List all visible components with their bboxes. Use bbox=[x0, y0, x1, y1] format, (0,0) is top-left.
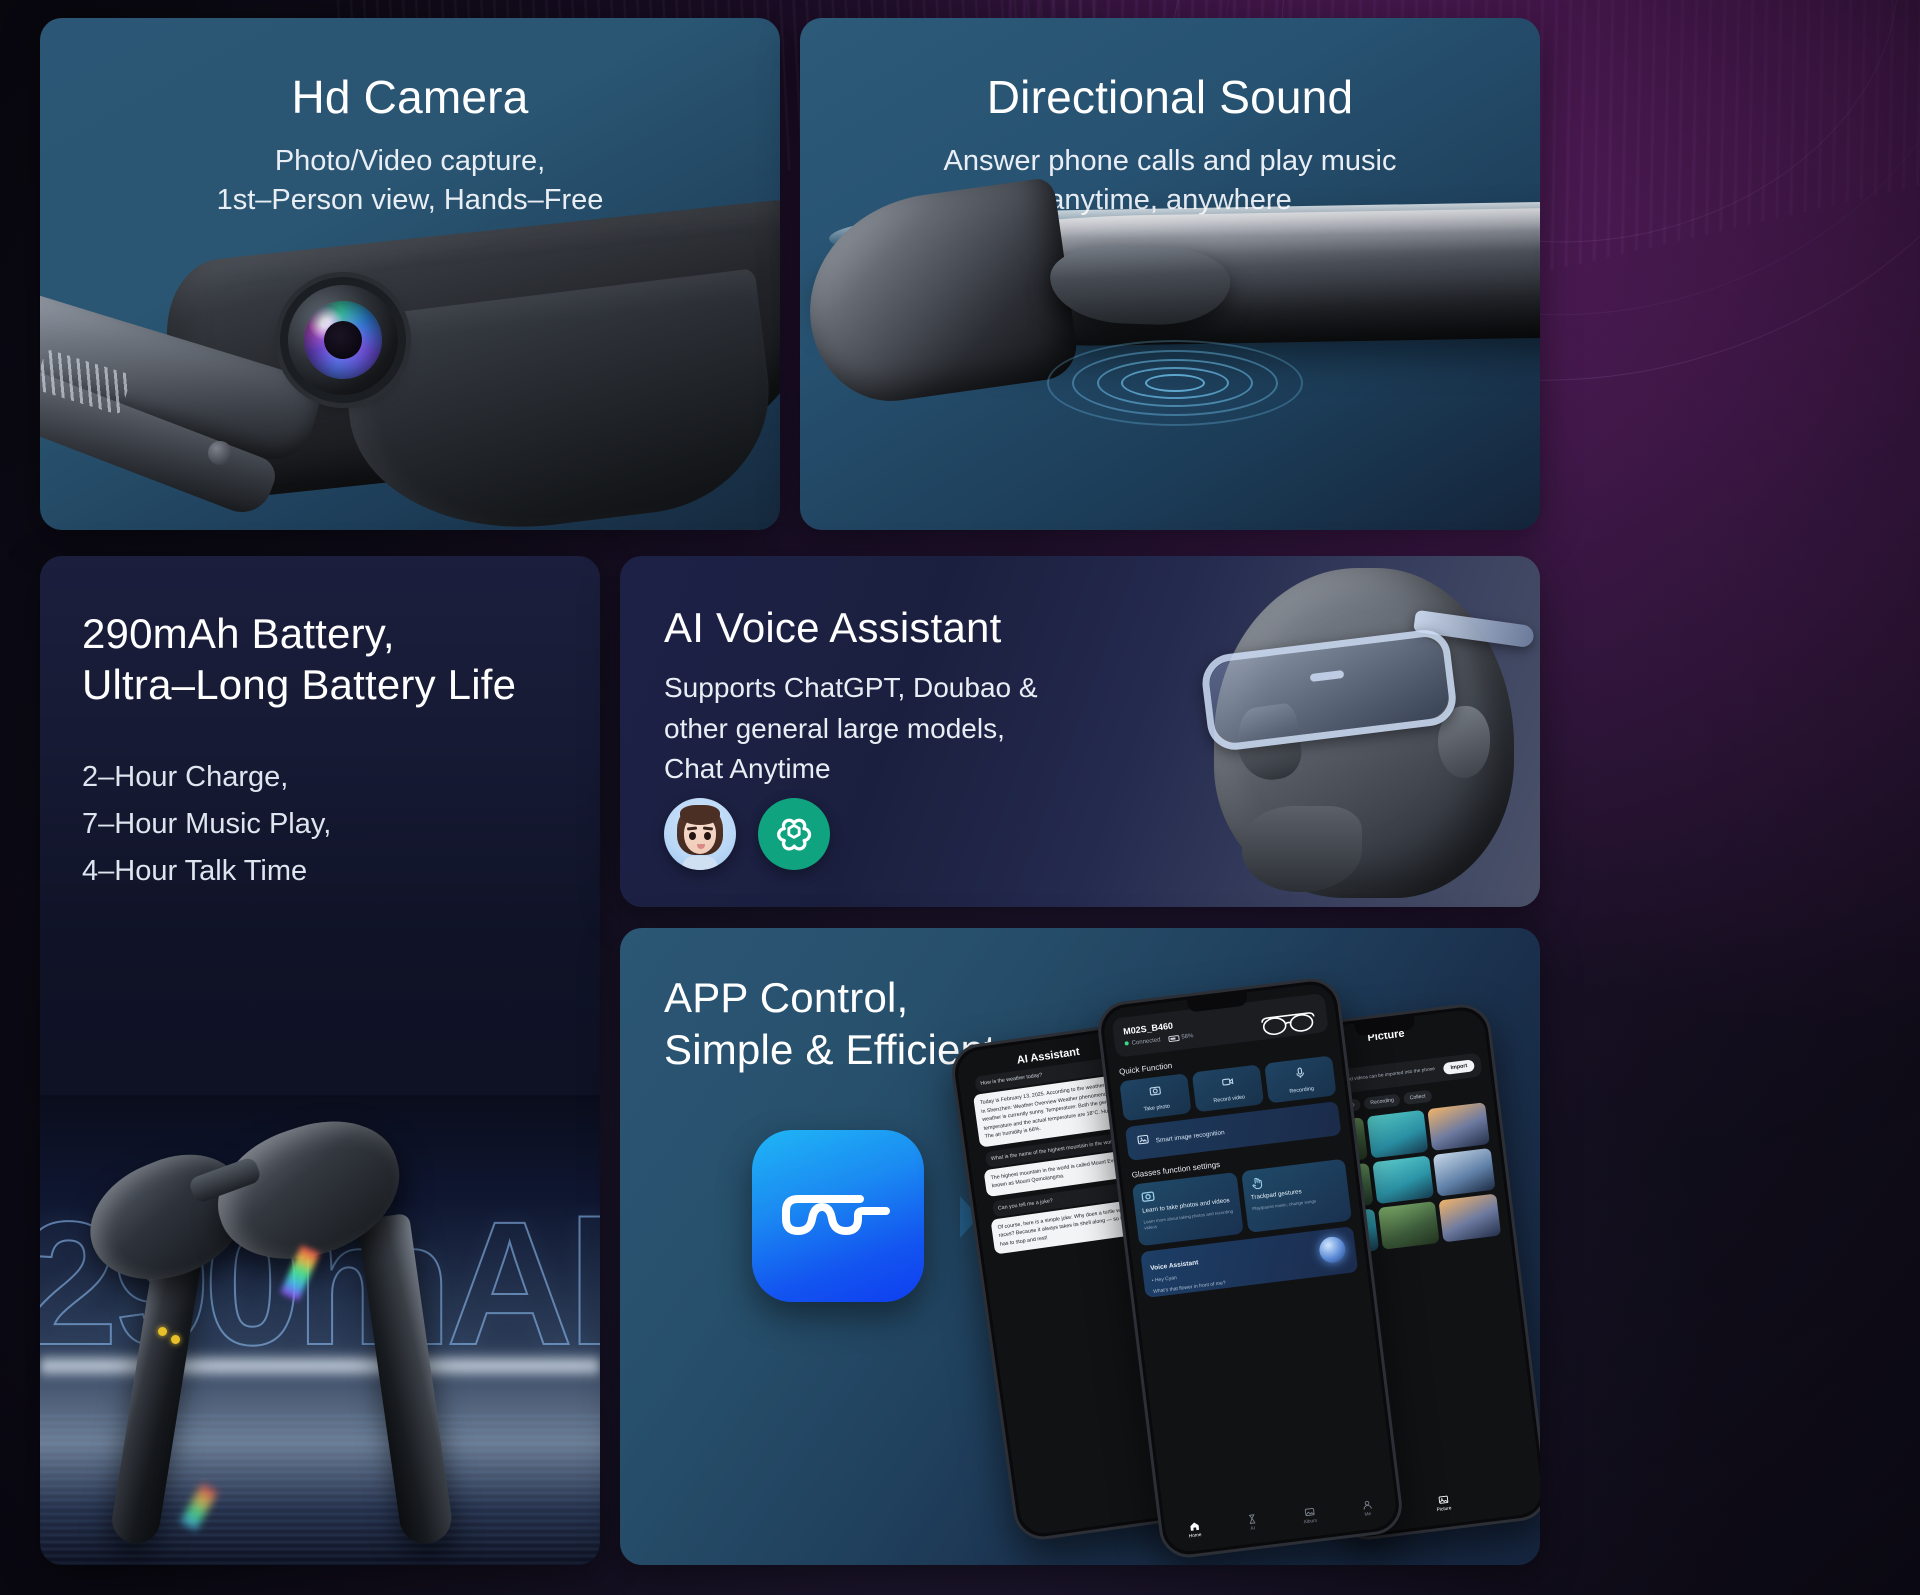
battery-icon bbox=[1168, 1035, 1180, 1042]
status-dot-icon bbox=[1124, 1041, 1128, 1045]
nav-label: Me bbox=[1364, 1512, 1371, 1518]
album-icon bbox=[1303, 1506, 1315, 1518]
battery-glasses-photo: 290mAh bbox=[40, 1095, 600, 1565]
glasses-outline-icon bbox=[1258, 1008, 1319, 1044]
status-badge: Connected bbox=[1124, 1037, 1160, 1047]
hd-camera-subtitle: Photo/Video capture, 1st–Person view, Ha… bbox=[40, 142, 780, 220]
tab-collect[interactable]: Collect bbox=[1403, 1090, 1432, 1105]
list-item: 4–Hour Talk Time bbox=[82, 848, 600, 895]
temple-bend bbox=[800, 177, 1081, 411]
feature-card-directional-sound: Directional Sound Answer phone calls and… bbox=[800, 18, 1540, 530]
photo-thumbnail[interactable] bbox=[1366, 1110, 1428, 1159]
photo-thumbnail[interactable] bbox=[1428, 1102, 1490, 1151]
battery-title-line2: Ultra–Long Battery Life bbox=[82, 659, 600, 710]
camera-icon bbox=[1147, 1083, 1162, 1102]
album-icon bbox=[1437, 1494, 1449, 1506]
nav-item-me[interactable]: Me bbox=[1337, 1496, 1397, 1521]
microphone-icon bbox=[1292, 1065, 1307, 1084]
horizon-glow bbox=[40, 1353, 600, 1379]
quick-action-label: Record video bbox=[1213, 1094, 1245, 1104]
glasses-app-icon bbox=[752, 1130, 924, 1302]
photo-thumbnail[interactable] bbox=[1433, 1148, 1495, 1197]
home-icon bbox=[1188, 1520, 1200, 1532]
hd-camera-title: Hd Camera bbox=[40, 70, 780, 124]
battery-level: 58% bbox=[1181, 1033, 1194, 1040]
sound-ring-5 bbox=[1047, 340, 1303, 426]
voice-assistant-title: Voice Assistant bbox=[1150, 1259, 1199, 1272]
photo-thumbnail[interactable] bbox=[1372, 1155, 1434, 1204]
glasses-temple-speaker-photo bbox=[800, 18, 1540, 530]
ai-partner-logos bbox=[664, 798, 830, 870]
indicator-led-1 bbox=[158, 1327, 167, 1336]
tab-recording[interactable]: Recording bbox=[1364, 1094, 1401, 1110]
status-text: Connected bbox=[1131, 1037, 1161, 1046]
ai-icon bbox=[1245, 1513, 1257, 1525]
nav-label: Picture bbox=[1436, 1506, 1451, 1513]
smart-glasses-camera-photo bbox=[40, 213, 780, 530]
avatar-shoulders bbox=[682, 856, 718, 870]
app-screenshot-mockups: AI Assistant How is the weather today? T… bbox=[980, 980, 1540, 1565]
smart-recognition-label: Smart image recognition bbox=[1155, 1129, 1225, 1144]
quick-action-label: Take photo bbox=[1143, 1103, 1170, 1112]
list-item: 7–Hour Music Play, bbox=[82, 801, 600, 848]
doubao-avatar-icon bbox=[664, 798, 736, 870]
nav-label: Album bbox=[1303, 1519, 1317, 1526]
ai-assistant-subtitle: Supports ChatGPT, Doubao & other general… bbox=[664, 668, 1104, 790]
mannequin-chin bbox=[1242, 806, 1362, 892]
avatar-eye-left bbox=[689, 832, 696, 840]
setting-learn-photos-videos[interactable]: Learn to take photos and videos Learn mo… bbox=[1132, 1172, 1243, 1246]
ai-assistant-subtitle-line1: Supports ChatGPT, Doubao & bbox=[664, 668, 1104, 709]
feature-card-ai-voice-assistant: AI Voice Assistant Supports ChatGPT, Dou… bbox=[620, 556, 1540, 907]
quick-action-take-photo[interactable]: Take photo bbox=[1119, 1073, 1191, 1121]
mannequin-wearing-glasses-photo bbox=[1090, 556, 1540, 907]
battery-title-line1: 290mAh Battery, bbox=[82, 608, 600, 659]
video-icon bbox=[1220, 1074, 1235, 1093]
nav-item-home[interactable]: Home bbox=[1165, 1517, 1225, 1542]
avatar-eye-right bbox=[704, 832, 711, 840]
ai-assistant-subtitle-line3: Chat Anytime bbox=[664, 749, 1104, 790]
hand-gesture-icon bbox=[1248, 1175, 1265, 1197]
feature-card-battery: 290mAh Battery, Ultra–Long Battery Life … bbox=[40, 556, 600, 1565]
feature-card-app-control: APP Control, Simple & Efficient AI Assis… bbox=[620, 928, 1540, 1565]
feature-card-hd-camera: Hd Camera Photo/Video capture, 1st–Perso… bbox=[40, 18, 780, 530]
quick-action-recording[interactable]: Recording bbox=[1264, 1055, 1336, 1103]
photo-thumbnail[interactable] bbox=[1378, 1201, 1440, 1250]
image-recognition-icon bbox=[1136, 1132, 1151, 1151]
camera-icon bbox=[1140, 1188, 1157, 1210]
bottom-nav: Home AI Album Me bbox=[1164, 1488, 1398, 1550]
setting-trackpad-gestures[interactable]: Trackpad gestures Play/pause music, chan… bbox=[1241, 1159, 1352, 1233]
nav-label: AI bbox=[1250, 1526, 1255, 1532]
battery-indicator: 58% bbox=[1168, 1033, 1194, 1042]
quick-action-label: Recording bbox=[1289, 1085, 1314, 1094]
chatgpt-logo-icon bbox=[758, 798, 830, 870]
quick-action-record-video[interactable]: Record video bbox=[1192, 1064, 1264, 1112]
sound-wave-rings-icon bbox=[1040, 318, 1310, 448]
battery-title: 290mAh Battery, Ultra–Long Battery Life bbox=[82, 608, 600, 710]
nav-label: Home bbox=[1189, 1533, 1202, 1540]
profile-icon bbox=[1361, 1499, 1373, 1511]
import-button[interactable]: Import bbox=[1443, 1059, 1475, 1075]
glasses-hinge-screw bbox=[208, 441, 232, 465]
avatar-fringe bbox=[680, 805, 720, 825]
battery-spec-list: 2–Hour Charge, 7–Hour Music Play, 4–Hour… bbox=[82, 754, 600, 895]
ai-assistant-subtitle-line2: other general large models, bbox=[664, 709, 1104, 750]
indicator-led-2 bbox=[171, 1335, 180, 1344]
nav-item-album[interactable]: Album bbox=[1280, 1503, 1340, 1528]
hd-camera-subtitle-line1: Photo/Video capture, bbox=[40, 142, 780, 181]
list-item: 2–Hour Charge, bbox=[82, 754, 600, 801]
photo-thumbnail[interactable] bbox=[1439, 1194, 1501, 1243]
nav-item-ai[interactable]: AI bbox=[1222, 1510, 1282, 1535]
